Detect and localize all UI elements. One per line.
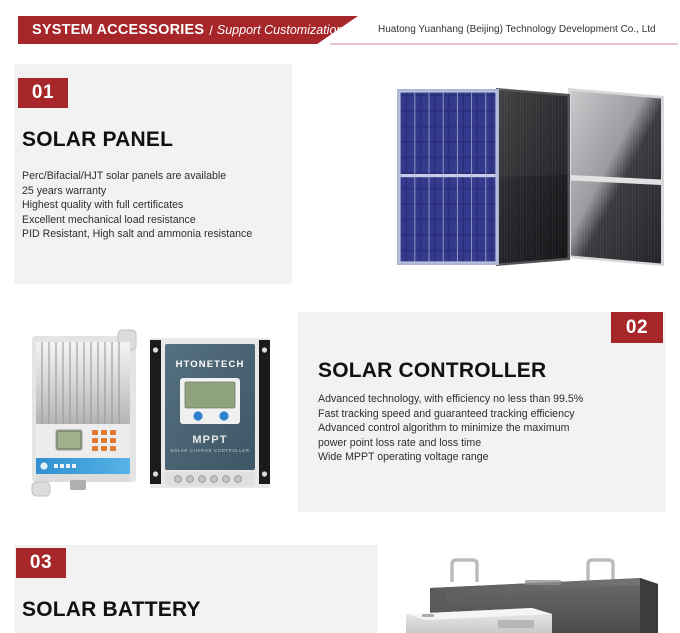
section-number-badge-02: 02 [611, 312, 663, 343]
page-header: SYSTEM ACCESSORIES / Support Customizati… [0, 0, 680, 52]
controller-type-text: MPPT [192, 434, 227, 446]
polycrystalline-panel [398, 90, 498, 264]
product-catalog-page: SYSTEM ACCESSORIES / Support Customizati… [0, 0, 680, 633]
controller-button-right [219, 411, 228, 420]
battery-handles [452, 560, 613, 582]
banner-subtitle: Support Customization [217, 23, 343, 37]
header-divider [330, 43, 678, 45]
solar-battery-photo [400, 552, 666, 633]
heatsink-controller-device [32, 330, 136, 496]
section-number-badge-03: 03 [16, 548, 66, 578]
section-body-02: Advanced technology, with efficiency no … [318, 392, 660, 465]
section-number-badge-01: 01 [18, 78, 68, 108]
section-body-01: Perc/Bifacial/HJT solar panels are avail… [22, 169, 284, 242]
solar-controller-photo: HTONETECH MPPT SOLAR CHARGE CONTROLLER [18, 322, 286, 502]
bifacial-panel [568, 88, 664, 266]
monocrystalline-panel [496, 88, 570, 266]
banner-title: SYSTEM ACCESSORIES [32, 22, 204, 38]
controller-button-left [193, 411, 202, 420]
battery-light [406, 608, 552, 633]
banner-separator: / [209, 23, 213, 38]
mppt-controller-device: HTONETECH MPPT SOLAR CHARGE CONTROLLER [150, 338, 270, 488]
controller-brand-text: HTONETECH [176, 359, 245, 370]
section-title-01: SOLAR PANEL [22, 128, 173, 152]
company-name: Huatong Yuanhang (Beijing) Technology De… [378, 24, 656, 35]
section-title-02: SOLAR CONTROLLER [318, 359, 546, 383]
section-banner: SYSTEM ACCESSORIES / Support Customizati… [18, 16, 358, 44]
lcd-screen [185, 382, 235, 408]
solar-panel-photo [392, 80, 666, 275]
section-title-03: SOLAR BATTERY [22, 598, 201, 622]
controller-subtitle-text: SOLAR CHARGE CONTROLLER [170, 448, 249, 453]
